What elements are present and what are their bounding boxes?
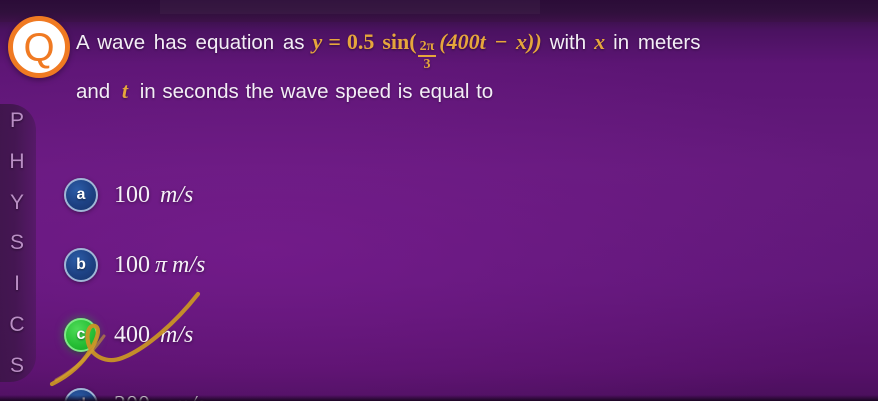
option-pi-b: π <box>155 252 167 278</box>
equation-t-var: t <box>122 78 128 103</box>
option-unit-b: m/s <box>172 252 205 278</box>
option-badge-c[interactable]: c <box>64 318 98 352</box>
question-badge-letter: Q <box>23 28 54 68</box>
equation-equals: = <box>328 22 341 62</box>
rail-letter: C <box>6 314 28 335</box>
option-row-a[interactable]: a 100m/s <box>64 160 484 230</box>
fraction-denominator: 3 <box>421 57 432 72</box>
option-label-b: 100πm/s <box>114 252 205 279</box>
rail-letter: S <box>6 232 28 253</box>
equation-fraction: 2π 3 <box>418 40 437 72</box>
fraction-numerator: 2π <box>418 40 437 55</box>
question-line-2: and t in seconds the wave speed is equal… <box>76 71 876 112</box>
question-slide: P H Y S I C S Q A wave has equation as y… <box>0 0 878 401</box>
option-unit-c: m/s <box>160 322 193 348</box>
option-row-c[interactable]: c 400m/s <box>64 300 484 370</box>
rail-letter: S <box>6 355 28 376</box>
top-band-highlight <box>160 0 540 14</box>
option-unit-a: m/s <box>160 182 193 208</box>
question-badge-icon: Q <box>8 16 70 78</box>
bottom-edge-shadow <box>0 395 878 401</box>
equation-sin-open: sin( <box>382 22 416 62</box>
question-in-meters: in meters <box>613 23 700 63</box>
equation-amplitude: 0.5 <box>347 22 375 62</box>
option-value-b: 100 <box>114 252 150 278</box>
rail-letter: H <box>6 151 28 172</box>
option-value-a: 100 <box>114 182 150 208</box>
question-and: and <box>76 80 110 103</box>
equation-argument: (400t − x)) <box>439 22 541 62</box>
question-line-1: A wave has equation as y = 0.5 sin( 2π 3… <box>76 22 876 71</box>
question-line1-prefix: A wave has equation as <box>76 23 305 63</box>
equation-x-var: x <box>594 22 605 62</box>
option-badge-a[interactable]: a <box>64 178 98 212</box>
rail-letter: I <box>6 273 28 294</box>
question-line2-rest: in seconds the wave speed is equal to <box>140 80 493 103</box>
subject-rail-physics: P H Y S I C S <box>0 104 36 382</box>
option-row-b[interactable]: b 100πm/s <box>64 230 484 300</box>
rail-letter: P <box>6 110 28 131</box>
question-with: with <box>550 23 586 63</box>
option-label-a: 100m/s <box>114 182 193 209</box>
equation-y: y <box>313 22 323 62</box>
question-text: A wave has equation as y = 0.5 sin( 2π 3… <box>76 22 876 112</box>
option-label-c: 400m/s <box>114 322 193 349</box>
top-dark-band <box>0 0 878 22</box>
option-badge-b[interactable]: b <box>64 248 98 282</box>
option-value-c: 400 <box>114 322 150 348</box>
options-list: a 100m/s b 100πm/s c 400m/s d 200πm/s <box>64 160 484 401</box>
rail-letter: Y <box>6 192 28 213</box>
